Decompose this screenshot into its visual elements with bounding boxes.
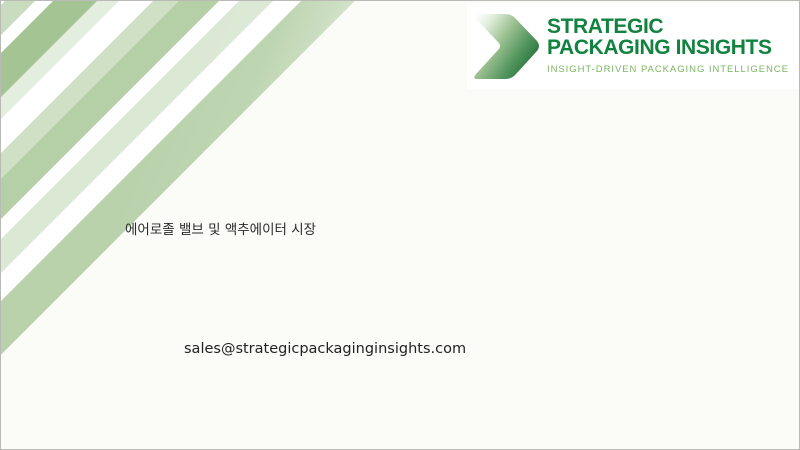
- report-title: 에어로졸 밸브 및 액추에이터 시장: [125, 218, 316, 238]
- stripe-band: [1, 1, 70, 450]
- logo-name-line-1: STRATEGIC: [547, 17, 789, 38]
- presentation-slide: STRATEGIC PACKAGING INSIGHTS INSIGHT-DRI…: [0, 0, 800, 450]
- logo-tagline: INSIGHT-DRIVEN PACKAGING INTELLIGENCE: [547, 64, 789, 75]
- stripe-band: [1, 1, 14, 450]
- chevron-right-icon: [471, 8, 543, 84]
- stripe-band: [1, 1, 95, 450]
- logo-name-line-2: PACKAGING INSIGHTS: [547, 38, 789, 59]
- stripe-band: [1, 1, 132, 450]
- logo-wordmark: STRATEGIC PACKAGING INSIGHTS INSIGHT-DRI…: [547, 17, 789, 75]
- company-logo: STRATEGIC PACKAGING INSIGHTS INSIGHT-DRI…: [467, 3, 799, 89]
- contact-email: sales@strategicpackaginginsights.com: [184, 341, 466, 357]
- stripe-band: [1, 1, 37, 450]
